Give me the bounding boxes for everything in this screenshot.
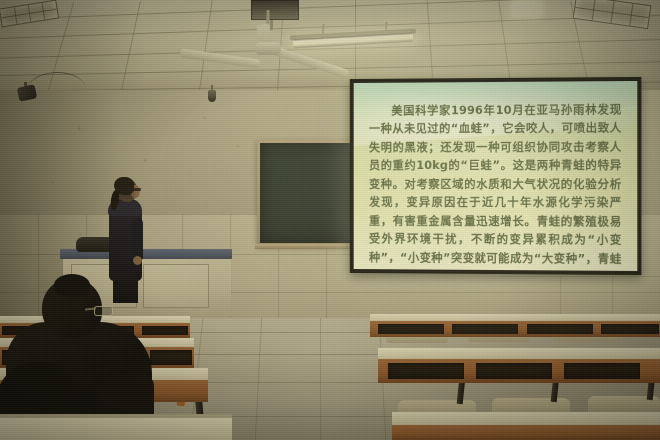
- projection-screen: 美国科学家1996年10月在亚马孙雨林发现一种从未见过的“血蛙”，它会咬人，可喷…: [350, 77, 642, 275]
- glasses-icon: [133, 188, 141, 191]
- foreground-desk: [0, 418, 232, 440]
- wall-lamp-icon: [208, 90, 216, 102]
- classroom-photo: 美国科学家1996年10月在亚马孙雨林发现一种从未见过的“血蛙”，它会咬人，可喷…: [0, 0, 660, 440]
- student-hair: [54, 274, 90, 296]
- slide-body-text: 美国科学家1996年10月在亚马孙雨林发现一种从未见过的“血蛙”，它会咬人，可喷…: [369, 100, 621, 271]
- projection-screen-surface: 美国科学家1996年10月在亚马孙雨林发现一种从未见过的“血蛙”，它会咬人，可喷…: [354, 81, 638, 271]
- glasses-icon: [94, 306, 113, 316]
- blackboard-surface: [260, 143, 362, 243]
- presenter-hand: [133, 256, 142, 265]
